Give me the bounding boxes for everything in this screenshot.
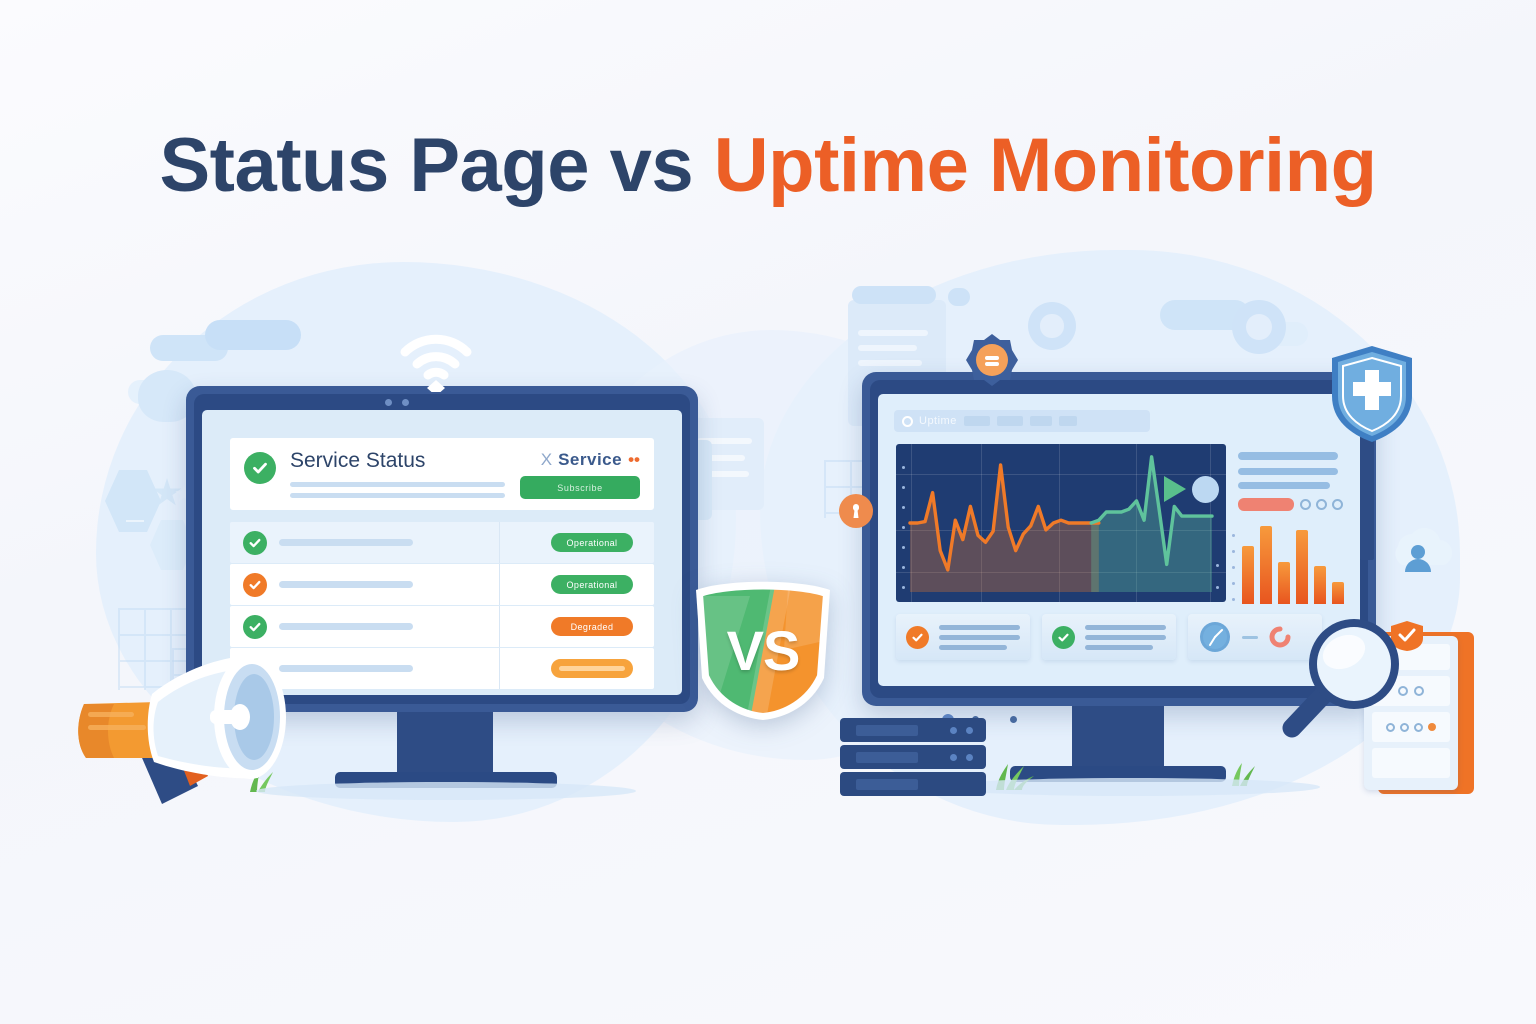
sidebar-skeleton-line xyxy=(1238,482,1330,489)
subscribe-button-label: Subscribe xyxy=(557,483,602,493)
row-divider xyxy=(499,606,500,647)
device-shadow xyxy=(256,782,636,800)
gear-icon xyxy=(1028,302,1076,350)
row-divider xyxy=(499,564,500,605)
bar-axis-tick xyxy=(1232,534,1235,537)
tabbar-cell[interactable] xyxy=(964,416,990,426)
stat-card[interactable] xyxy=(896,614,1030,660)
ring-indicator xyxy=(1414,686,1424,696)
page-title-part-1: Status Page vs xyxy=(159,123,713,208)
service-status-header: Service Status X Service •• Subscribe xyxy=(230,438,654,510)
play-triangle-icon[interactable] xyxy=(1164,476,1186,502)
row-label-skeleton xyxy=(279,539,413,546)
status-circle-indicator xyxy=(1192,476,1219,503)
document-decor xyxy=(852,286,936,304)
monitor-stand-neck-left xyxy=(397,712,493,774)
server-unit xyxy=(840,745,986,769)
service-status-title: Service Status xyxy=(290,450,480,472)
tabbar-cell[interactable] xyxy=(997,416,1023,426)
ring-indicator xyxy=(1332,499,1343,510)
server-slot xyxy=(856,779,918,790)
ring-indicator xyxy=(1300,499,1311,510)
bar xyxy=(1332,582,1344,604)
dashboard-tabbar[interactable]: Uptime xyxy=(894,410,1150,432)
server-led xyxy=(950,727,957,734)
illustration-canvas: Status Page vs Uptime Monitoring Service… xyxy=(0,0,1536,1024)
check-circle-icon xyxy=(906,626,929,649)
brand-name: Service xyxy=(558,450,622,470)
row-label-skeleton xyxy=(279,581,413,588)
cloud-user-icon xyxy=(1378,528,1458,596)
gauge-connector xyxy=(1242,636,1258,639)
bar-axis-tick xyxy=(1232,566,1235,569)
row-divider xyxy=(499,648,500,689)
alert-dot xyxy=(1428,723,1436,731)
server-led xyxy=(966,754,973,761)
bar-axis-tick xyxy=(1232,550,1235,553)
megaphone-icon xyxy=(62,626,312,816)
lock-icon xyxy=(839,494,873,528)
server-led xyxy=(950,754,957,761)
monitor-camera-dot xyxy=(385,399,392,406)
document-decor xyxy=(948,288,970,306)
sidebar-skeleton-line xyxy=(1238,452,1338,460)
status-badge: Maintenance xyxy=(551,659,633,678)
sidebar-bar-chart xyxy=(1242,524,1346,604)
cloud-decor xyxy=(205,320,301,350)
spark-decor xyxy=(126,520,144,522)
table-row[interactable]: Operational xyxy=(230,564,654,605)
page-title-part-2: Uptime Monitoring xyxy=(714,123,1377,208)
checklist-row xyxy=(1372,748,1450,778)
status-badge: Operational xyxy=(551,575,633,594)
server-slot xyxy=(856,752,918,763)
check-circle-icon xyxy=(243,531,267,555)
stat-card[interactable] xyxy=(1042,614,1176,660)
certificate-badge-icon xyxy=(964,332,1020,388)
server-stack-icon xyxy=(840,718,986,798)
brand-accent-dot: •• xyxy=(628,450,640,470)
tabbar-cell[interactable] xyxy=(1030,416,1052,426)
magnifying-glass-icon xyxy=(1280,608,1414,742)
status-badge-label: Degraded xyxy=(571,622,614,632)
ring-indicator xyxy=(1316,499,1327,510)
status-badge: Operational xyxy=(551,533,633,552)
ring-indicator xyxy=(1414,723,1423,732)
status-badge: Degraded xyxy=(551,617,633,636)
monitor-camera-dot xyxy=(402,399,409,406)
gauge-icon xyxy=(1198,620,1232,654)
server-led xyxy=(966,727,973,734)
bar-axis-tick xyxy=(1232,582,1235,585)
header-skeleton-line xyxy=(290,482,505,487)
gear-icon xyxy=(1232,300,1286,354)
bar xyxy=(1296,530,1308,604)
status-badge-label: Operational xyxy=(567,580,618,590)
shield-pole xyxy=(1360,430,1374,560)
uptime-chart-panel xyxy=(896,444,1226,602)
versus-label: VS xyxy=(688,580,838,720)
wifi-signal-icon xyxy=(395,330,477,392)
bar xyxy=(1242,546,1254,604)
subscribe-button[interactable]: Subscribe xyxy=(520,476,640,499)
server-unit xyxy=(840,718,986,742)
row-divider xyxy=(499,522,500,563)
check-circle-icon xyxy=(1052,626,1075,649)
header-skeleton-line xyxy=(290,493,505,498)
stat-card-lines xyxy=(939,625,1020,650)
bar xyxy=(1260,526,1272,604)
bar-axis-tick xyxy=(1232,598,1235,601)
stat-card-lines xyxy=(1085,625,1166,650)
brand-x-mark: X xyxy=(541,450,552,470)
tabbar-cell[interactable] xyxy=(1059,416,1077,426)
check-circle-icon xyxy=(244,452,276,484)
alert-bar xyxy=(1238,498,1294,511)
sidebar-skeleton-line xyxy=(1238,468,1338,475)
table-row[interactable]: Operational xyxy=(230,522,654,563)
versus-shield-badge: VS xyxy=(688,580,838,720)
monitor-stand-neck-right xyxy=(1072,706,1164,768)
page-title: Status Page vs Uptime Monitoring xyxy=(0,122,1536,209)
bar xyxy=(1278,562,1290,604)
chart-series-svg xyxy=(896,444,1226,602)
device-shadow xyxy=(940,778,1320,796)
monitor-camera-dot xyxy=(1010,716,1017,723)
server-unit xyxy=(840,772,986,796)
status-badge-label: Operational xyxy=(567,538,618,548)
check-circle-icon xyxy=(243,573,267,597)
circle-icon xyxy=(902,416,913,427)
bar xyxy=(1314,566,1326,604)
tabbar-label: Uptime xyxy=(919,415,957,427)
shield-plus-icon xyxy=(1328,344,1416,444)
server-slot xyxy=(856,725,918,736)
